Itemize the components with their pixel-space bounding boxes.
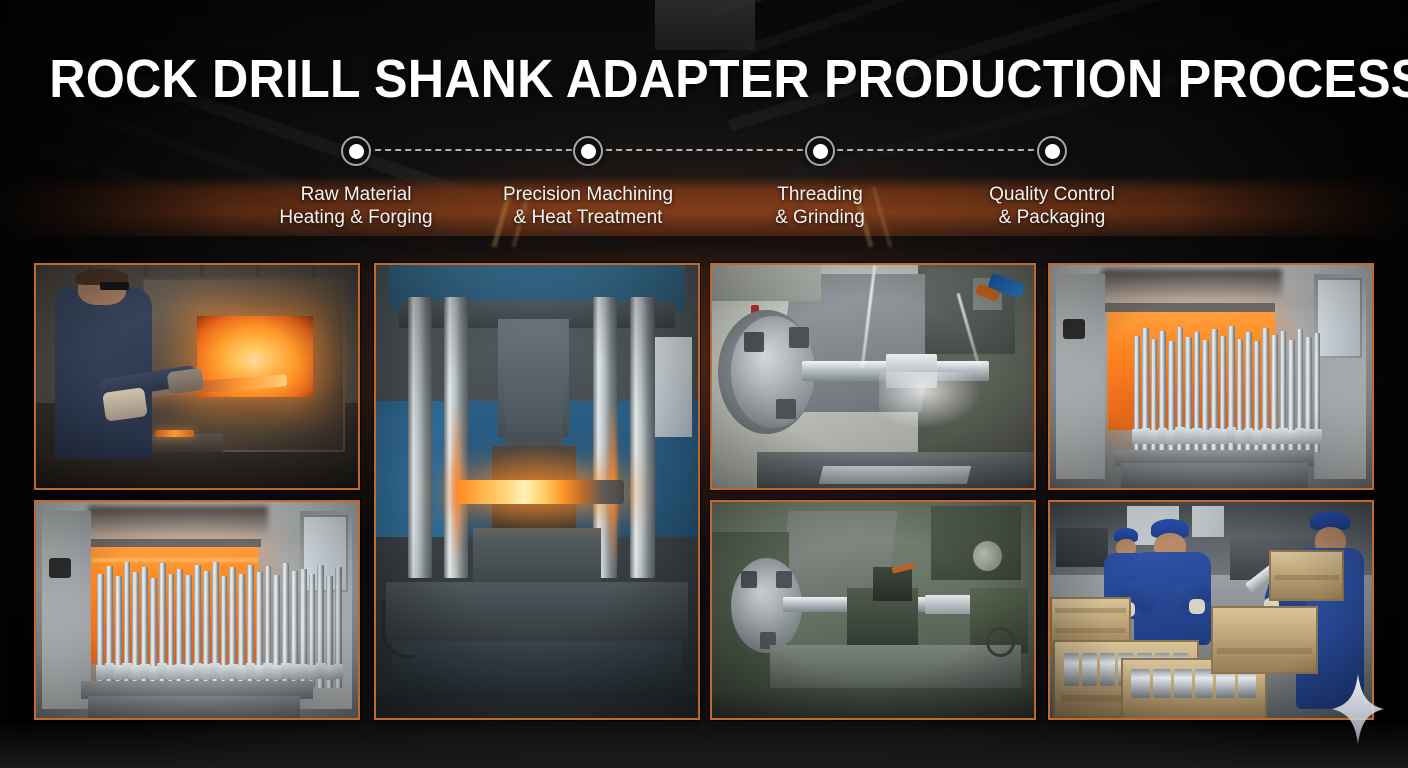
photo-content — [712, 265, 1034, 488]
photo-heat-treat-right[interactable] — [1048, 263, 1374, 490]
bottom-shadow-bar — [0, 722, 1408, 768]
timeline-step-label: Quality Control & Packaging — [989, 183, 1115, 229]
process-timeline: Raw Material Heating & Forging Precision… — [0, 136, 1408, 236]
step-dot-icon — [573, 136, 603, 166]
timeline-step-label-line2: Heating & Forging — [279, 206, 432, 229]
photo-vignette — [36, 265, 358, 488]
timeline-step-label-line2: & Packaging — [989, 206, 1115, 229]
timeline-step-label-line2: & Grinding — [775, 206, 865, 229]
photo-cnc-lathe[interactable] — [710, 263, 1036, 490]
photo-vignette — [712, 265, 1034, 488]
slide-canvas: ROCK DRILL SHANK ADAPTER PRODUCTION PROC… — [0, 0, 1408, 768]
photo-grid — [34, 263, 1374, 716]
step-dot-icon — [805, 136, 835, 166]
timeline-steps: Raw Material Heating & Forging Precision… — [240, 136, 1168, 229]
timeline-step-label-line1: Quality Control — [989, 183, 1115, 206]
photo-content — [36, 265, 358, 488]
timeline-step-label-line2: & Heat Treatment — [503, 206, 673, 229]
photo-content — [712, 502, 1034, 718]
photo-vignette — [712, 502, 1034, 718]
photo-content — [1050, 265, 1372, 488]
timeline-step-label: Raw Material Heating & Forging — [279, 183, 432, 229]
timeline-step-label-line1: Precision Machining — [503, 183, 673, 206]
timeline-step-label-line1: Threading — [775, 183, 865, 206]
photo-heat-treat-left[interactable] — [34, 500, 360, 720]
timeline-step-threading[interactable]: Threading & Grinding — [704, 136, 936, 229]
photo-vignette — [36, 502, 358, 718]
photo-manual-lathe[interactable] — [710, 500, 1036, 720]
photo-vignette — [1050, 265, 1372, 488]
step-dot-icon — [1037, 136, 1067, 166]
timeline-step-label: Precision Machining & Heat Treatment — [503, 183, 673, 229]
timeline-step-precision-machining[interactable]: Precision Machining & Heat Treatment — [472, 136, 704, 229]
photo-packaging[interactable] — [1048, 500, 1374, 720]
timeline-step-label-line1: Raw Material — [279, 183, 432, 206]
photo-hydraulic-press[interactable] — [374, 263, 700, 720]
timeline-step-raw-material[interactable]: Raw Material Heating & Forging — [240, 136, 472, 229]
timeline-step-quality-control[interactable]: Quality Control & Packaging — [936, 136, 1168, 229]
photo-content — [376, 265, 698, 718]
page-title: ROCK DRILL SHANK ADAPTER PRODUCTION PROC… — [49, 48, 1358, 110]
timeline-step-label: Threading & Grinding — [775, 183, 865, 229]
step-dot-icon — [341, 136, 371, 166]
photo-content — [1050, 502, 1372, 718]
photo-content — [36, 502, 358, 718]
photo-vignette — [1050, 502, 1372, 718]
photo-vignette — [376, 265, 698, 718]
photo-forging-furnace[interactable] — [34, 263, 360, 490]
